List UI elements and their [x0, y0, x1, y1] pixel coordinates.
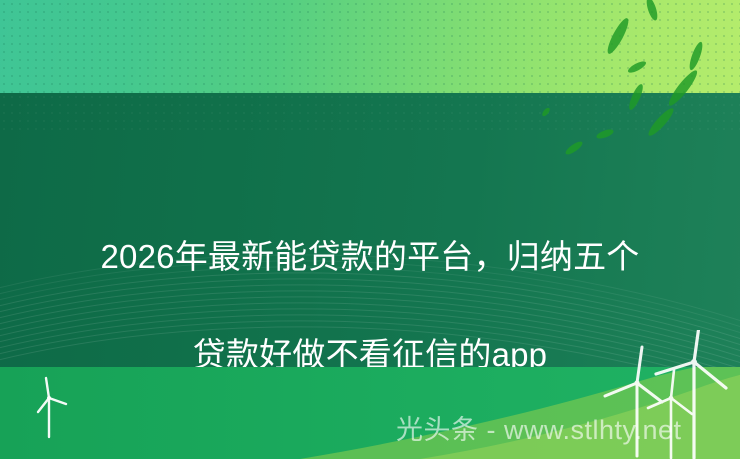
leaf-icon	[644, 0, 659, 22]
wind-turbine-icon	[8, 365, 98, 459]
leaf-cluster	[440, 0, 740, 160]
leaf-icon	[595, 128, 614, 141]
leaf-icon	[541, 107, 551, 118]
leaf-icon	[564, 139, 584, 156]
turbine-left-svg	[8, 365, 98, 459]
leaf-icon	[627, 83, 646, 112]
leaf-icon	[687, 41, 705, 72]
promo-banner: 2026年最新能贷款的平台，归纳五个 贷款好做不看征信的app	[0, 0, 740, 459]
site-watermark: 光头条 - www.stlhty.net	[396, 408, 682, 447]
leaf-icon	[646, 106, 677, 139]
leaf-icon	[666, 68, 701, 109]
title-line-1: 2026年最新能贷款的平台，归纳五个	[0, 232, 740, 281]
leaves-svg	[440, 0, 740, 160]
leaf-icon	[604, 16, 632, 56]
leaf-icon	[627, 59, 648, 75]
